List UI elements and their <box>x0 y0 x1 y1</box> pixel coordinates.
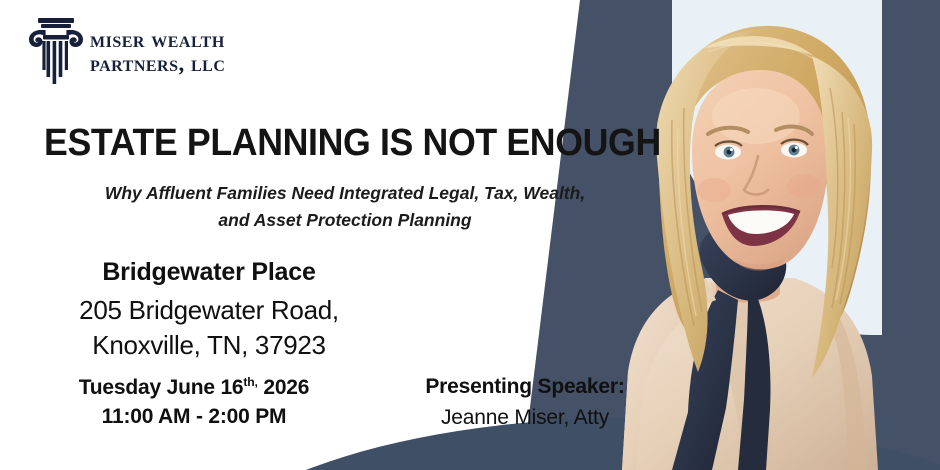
logo-wordmark: Miser Wealth Partners, LLC <box>90 28 225 77</box>
speaker-name: Jeanne Miser, Atty <box>400 406 650 430</box>
subtitle-line-2: and Asset Protection Planning <box>60 207 630 234</box>
speaker-label: Presenting Speaker: <box>400 375 650 399</box>
bottom-left-white-mask <box>0 424 280 470</box>
logo-line-1: Miser Wealth <box>90 28 225 52</box>
logo-line-2: Partners, LLC <box>90 52 225 76</box>
venue-name: Bridgewater Place <box>44 258 374 287</box>
venue-block: Bridgewater Place 205 Bridgewater Road, … <box>44 258 374 363</box>
speaker-block: Presenting Speaker: Jeanne Miser, Atty <box>400 375 650 430</box>
event-time: 11:00 AM - 2:00 PM <box>44 405 344 429</box>
subtitle-line-1: Why Affluent Families Need Integrated Le… <box>60 180 630 207</box>
event-headline: ESTATE PLANNING IS NOT ENOUGH <box>44 122 661 165</box>
ionic-column-icon <box>28 14 84 90</box>
venue-city-state-zip: Knoxville, TN, 37923 <box>44 328 374 363</box>
event-subtitle: Why Affluent Families Need Integrated Le… <box>60 180 630 234</box>
event-date-main: Tuesday June 16 <box>79 376 244 399</box>
company-logo: Miser Wealth Partners, LLC <box>28 14 225 90</box>
event-date: Tuesday June 16th, 2026 <box>44 375 344 400</box>
venue-street: 205 Bridgewater Road, <box>44 293 374 328</box>
event-date-ordinal: th, <box>243 375 257 389</box>
event-banner: Miser Wealth Partners, LLC ESTATE PLANNI… <box>0 0 940 470</box>
datetime-block: Tuesday June 16th, 2026 11:00 AM - 2:00 … <box>44 375 344 429</box>
event-date-year: 2026 <box>263 376 309 399</box>
